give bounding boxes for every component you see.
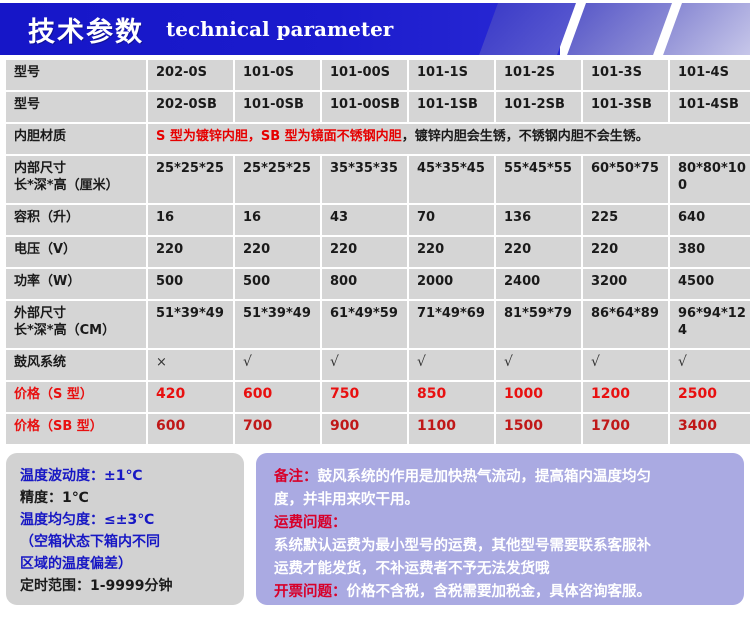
price-value-s: 850	[417, 386, 446, 402]
table-row: 容积（升）16164370136225640	[6, 205, 750, 235]
table-cell: 1100	[409, 414, 494, 444]
table-cell: 101-4S	[670, 60, 750, 90]
notes-body: 度，并非用来吹干用。	[274, 492, 419, 508]
cross-icon: ×	[156, 355, 167, 370]
table-cell: 220	[148, 237, 233, 267]
table-row-label: 价格（S 型）	[6, 382, 146, 412]
price-value-sb: 1500	[504, 418, 543, 434]
table-cell: 101-00SB	[322, 92, 407, 122]
row-label-line1: 功率（W）	[14, 273, 140, 290]
notes-heading: 备注：	[274, 469, 318, 485]
cell-value: 101-2S	[504, 65, 555, 80]
cell-value: 51*39*49	[156, 306, 224, 321]
row-label-line1: 型号	[14, 64, 140, 81]
cell-value: 220	[417, 242, 444, 257]
cell-value: 60*50*75	[591, 161, 659, 176]
cell-value: 80*80*100	[678, 161, 746, 193]
temperature-info-line: 精度：1℃	[20, 487, 244, 509]
cell-value: 25*25*25	[243, 161, 311, 176]
table-cell: 640	[670, 205, 750, 235]
cell-value: 2400	[504, 274, 540, 289]
temperature-info-line: （空箱状态下箱内不同	[20, 531, 244, 553]
row-label-line1: 外部尺寸	[14, 305, 140, 322]
check-icon: √	[330, 354, 339, 370]
table-cell: 220	[409, 237, 494, 267]
table-cell: 16	[148, 205, 233, 235]
check-icon: √	[504, 354, 513, 370]
table-cell: 101-00S	[322, 60, 407, 90]
specification-table-body: 型号202-0S101-0S101-00S101-1S101-2S101-3S1…	[6, 60, 750, 444]
info-panels: 温度波动度：±1℃精度：1℃温度均匀度：≤±3℃（空箱状态下箱内不同区域的温度偏…	[0, 453, 750, 613]
cell-value: 101-0S	[243, 65, 294, 80]
table-cell: 500	[235, 269, 320, 299]
cell-value: 2000	[417, 274, 453, 289]
row-label-line1: 价格（SB 型）	[14, 418, 140, 435]
cell-value: 101-4SB	[678, 97, 739, 112]
table-cell: 1500	[496, 414, 581, 444]
price-value-s: 750	[330, 386, 359, 402]
table-cell: 81*59*79	[496, 301, 581, 348]
cell-value: 70	[417, 210, 435, 225]
table-cell: 60*50*75	[583, 156, 668, 203]
notes-info-line: 开票问题：价格不含税，含税需要加税金，具体咨询客服。	[274, 581, 744, 604]
row-label-line1: 电压（V）	[14, 241, 140, 258]
table-cell: 220	[583, 237, 668, 267]
table-cell: 51*39*49	[148, 301, 233, 348]
table-cell: 900	[322, 414, 407, 444]
cell-value: 640	[678, 210, 705, 225]
cell-value: 202-0SB	[156, 97, 217, 112]
table-row: 内胆材质S 型为镀锌内胆，SB 型为镜面不锈钢内胆，镀锌内胆会生锈，不锈钢内胆不…	[6, 124, 750, 154]
price-value-sb: 900	[330, 418, 359, 434]
table-row-label: 外部尺寸长*深*高（CM）	[6, 301, 146, 348]
table-row-label: 型号	[6, 92, 146, 122]
cell-value: 35*35*35	[330, 161, 398, 176]
cell-value: 101-3SB	[591, 97, 652, 112]
check-icon: √	[591, 354, 600, 370]
table-cell: 16	[235, 205, 320, 235]
temperature-info-line: 区域的温度偏差）	[20, 553, 244, 575]
table-cell: 700	[235, 414, 320, 444]
banner-title-group: 技术参数 technical parameter	[0, 3, 393, 55]
cell-value: 220	[504, 242, 531, 257]
cell-value: 202-0S	[156, 65, 207, 80]
banner-title-en: technical parameter	[166, 17, 393, 41]
table-cell: 101-2SB	[496, 92, 581, 122]
page-header-banner: 技术参数 technical parameter	[0, 0, 750, 58]
table-row: 价格（SB 型）6007009001100150017003400	[6, 414, 750, 444]
temperature-info-line: 定时范围：1-9999分钟	[20, 575, 244, 597]
table-row-label: 鼓风系统	[6, 350, 146, 380]
table-cell: 750	[322, 382, 407, 412]
cell-value: 500	[243, 274, 270, 289]
cell-value: 101-00SB	[330, 97, 400, 112]
cell-value: 220	[156, 242, 183, 257]
table-cell: 51*39*49	[235, 301, 320, 348]
cell-value: 225	[591, 210, 618, 225]
notes-info-line: 运费才能发货，不补运费者不予无法发货哦	[274, 558, 744, 581]
table-cell: 225	[583, 205, 668, 235]
table-row-label: 型号	[6, 60, 146, 90]
cell-value: 136	[504, 210, 531, 225]
table-cell: 101-4SB	[670, 92, 750, 122]
temperature-info-panel: 温度波动度：±1℃精度：1℃温度均匀度：≤±3℃（空箱状态下箱内不同区域的温度偏…	[6, 453, 244, 605]
table-row-label: 价格（SB 型）	[6, 414, 146, 444]
specification-table: 型号202-0S101-0S101-00S101-1S101-2S101-3S1…	[4, 58, 750, 446]
cell-value: 3200	[591, 274, 627, 289]
table-cell: 2000	[409, 269, 494, 299]
table-cell: √	[670, 350, 750, 380]
cell-value: 101-2SB	[504, 97, 565, 112]
table-cell: 1200	[583, 382, 668, 412]
table-cell: √	[322, 350, 407, 380]
check-icon: √	[417, 354, 426, 370]
price-value-s: 2500	[678, 386, 717, 402]
table-cell: 600	[148, 414, 233, 444]
cell-value: 16	[243, 210, 261, 225]
check-icon: √	[678, 354, 687, 370]
table-cell: 101-1S	[409, 60, 494, 90]
cell-value: 55*45*55	[504, 161, 572, 176]
table-cell: 600	[235, 382, 320, 412]
price-value-s: 600	[243, 386, 272, 402]
table-row: 外部尺寸长*深*高（CM）51*39*4951*39*4961*49*5971*…	[6, 301, 750, 348]
price-value-sb: 3400	[678, 418, 717, 434]
cell-value: 101-4S	[678, 65, 729, 80]
notes-info-line: 度，并非用来吹干用。	[274, 489, 744, 512]
table-row-label: 内胆材质	[6, 124, 146, 154]
table-cell: 101-0SB	[235, 92, 320, 122]
merged-text-red: S 型为镀锌内胆，SB 型为镜面不锈钢内胆	[156, 129, 402, 144]
table-cell: 25*25*25	[148, 156, 233, 203]
table-cell: 101-2S	[496, 60, 581, 90]
price-value-s: 420	[156, 386, 185, 402]
cell-value: 43	[330, 210, 348, 225]
table-cell: √	[235, 350, 320, 380]
table-cell: 202-0SB	[148, 92, 233, 122]
price-value-sb: 1100	[417, 418, 456, 434]
table-cell: 101-1SB	[409, 92, 494, 122]
table-cell: 420	[148, 382, 233, 412]
temperature-info-line: 温度波动度：±1℃	[20, 465, 244, 487]
cell-value: 800	[330, 274, 357, 289]
notes-body: 运费才能发货，不补运费者不予无法发货哦	[274, 561, 550, 577]
merged-text-black: ，镀锌内胆会生锈，不锈钢内胆不会生锈。	[402, 129, 649, 144]
notes-heading: 运费问题：	[274, 515, 347, 531]
cell-value: 101-0SB	[243, 97, 304, 112]
cell-value: 500	[156, 274, 183, 289]
table-cell: 43	[322, 205, 407, 235]
cell-value: 96*94*124	[678, 306, 746, 338]
table-cell: 380	[670, 237, 750, 267]
cell-value: 380	[678, 242, 705, 257]
table-cell: 70	[409, 205, 494, 235]
temperature-info-line: 温度均匀度：≤±3℃	[20, 509, 244, 531]
table-cell: 220	[235, 237, 320, 267]
cell-value: 101-1SB	[417, 97, 478, 112]
table-row: 功率（W）5005008002000240032004500	[6, 269, 750, 299]
row-label-line1: 价格（S 型）	[14, 386, 140, 403]
table-cell: √	[496, 350, 581, 380]
table-cell: 101-3S	[583, 60, 668, 90]
table-row-label: 内部尺寸长*深*高（厘米）	[6, 156, 146, 203]
table-cell: 136	[496, 205, 581, 235]
table-row-label: 功率（W）	[6, 269, 146, 299]
table-cell: 220	[496, 237, 581, 267]
cell-value: 61*49*59	[330, 306, 398, 321]
row-label-line1: 容积（升）	[14, 209, 140, 226]
notes-info-line: 备注：鼓风系统的作用是加快热气流动，提高箱内温度均匀	[274, 466, 744, 489]
cell-value: 101-00S	[330, 65, 390, 80]
table-cell: 101-3SB	[583, 92, 668, 122]
table-cell: 45*35*45	[409, 156, 494, 203]
price-value-sb: 600	[156, 418, 185, 434]
row-label-line2: 长*深*高（CM）	[14, 322, 140, 339]
cell-value: 16	[156, 210, 174, 225]
table-row-label: 电压（V）	[6, 237, 146, 267]
notes-body: 价格不含税，含税需要加税金，具体咨询客服。	[347, 584, 652, 600]
price-value-s: 1200	[591, 386, 630, 402]
banner-stripe-3	[663, 3, 750, 55]
table-cell: 86*64*89	[583, 301, 668, 348]
table-cell: 202-0S	[148, 60, 233, 90]
banner-title-cn: 技术参数	[28, 10, 144, 49]
table-cell: 3200	[583, 269, 668, 299]
cell-value: 81*59*79	[504, 306, 572, 321]
cell-value: 220	[330, 242, 357, 257]
price-value-sb: 700	[243, 418, 272, 434]
row-label-line1: 型号	[14, 96, 140, 113]
table-row: 价格（S 型）420600750850100012002500	[6, 382, 750, 412]
notes-info-line: 系统默认运费为最小型号的运费，其他型号需要联系客服补	[274, 535, 744, 558]
cell-value: 220	[591, 242, 618, 257]
cell-value: 220	[243, 242, 270, 257]
cell-value: 4500	[678, 274, 714, 289]
row-label-line1: 内部尺寸	[14, 160, 140, 177]
table-cell: 220	[322, 237, 407, 267]
table-cell: 80*80*100	[670, 156, 750, 203]
table-cell: ×	[148, 350, 233, 380]
table-cell: 3400	[670, 414, 750, 444]
cell-value: 101-3S	[591, 65, 642, 80]
table-cell: √	[409, 350, 494, 380]
price-value-sb: 1700	[591, 418, 630, 434]
table-cell: 61*49*59	[322, 301, 407, 348]
table-cell: 25*25*25	[235, 156, 320, 203]
cell-value: 25*25*25	[156, 161, 224, 176]
notes-info-panel: 备注：鼓风系统的作用是加快热气流动，提高箱内温度均匀度，并非用来吹干用。运费问题…	[256, 453, 744, 605]
notes-info-line: 运费问题：	[274, 512, 744, 535]
table-cell: 2500	[670, 382, 750, 412]
table-cell: 55*45*55	[496, 156, 581, 203]
table-cell: 1000	[496, 382, 581, 412]
table-cell: 101-0S	[235, 60, 320, 90]
table-cell: 71*49*69	[409, 301, 494, 348]
price-value-s: 1000	[504, 386, 543, 402]
row-label-line1: 鼓风系统	[14, 354, 140, 371]
table-cell: 500	[148, 269, 233, 299]
cell-value: 51*39*49	[243, 306, 311, 321]
table-cell: 2400	[496, 269, 581, 299]
table-row: 内部尺寸长*深*高（厘米）25*25*2525*25*2535*35*3545*…	[6, 156, 750, 203]
table-cell: 4500	[670, 269, 750, 299]
cell-value: 101-1S	[417, 65, 468, 80]
table-row: 型号202-0SB101-0SB101-00SB101-1SB101-2SB10…	[6, 92, 750, 122]
table-cell: 35*35*35	[322, 156, 407, 203]
table-cell-merged: S 型为镀锌内胆，SB 型为镜面不锈钢内胆，镀锌内胆会生锈，不锈钢内胆不会生锈。	[148, 124, 750, 154]
table-row-label: 容积（升）	[6, 205, 146, 235]
notes-body: 鼓风系统的作用是加快热气流动，提高箱内温度均匀	[318, 469, 652, 485]
table-cell: √	[583, 350, 668, 380]
notes-heading: 开票问题：	[274, 584, 347, 600]
table-cell: 800	[322, 269, 407, 299]
notes-body: 系统默认运费为最小型号的运费，其他型号需要联系客服补	[274, 538, 651, 554]
table-cell: 96*94*124	[670, 301, 750, 348]
table-row: 电压（V）220220220220220220380	[6, 237, 750, 267]
check-icon: √	[243, 354, 252, 370]
cell-value: 45*35*45	[417, 161, 485, 176]
cell-value: 86*64*89	[591, 306, 659, 321]
cell-value: 71*49*69	[417, 306, 485, 321]
banner-stripe-2	[567, 3, 672, 55]
table-cell: 1700	[583, 414, 668, 444]
table-cell: 850	[409, 382, 494, 412]
row-label-line2: 长*深*高（厘米）	[14, 177, 140, 194]
table-row: 型号202-0S101-0S101-00S101-1S101-2S101-3S1…	[6, 60, 750, 90]
table-row: 鼓风系统×√√√√√√	[6, 350, 750, 380]
row-label-line1: 内胆材质	[14, 128, 140, 145]
